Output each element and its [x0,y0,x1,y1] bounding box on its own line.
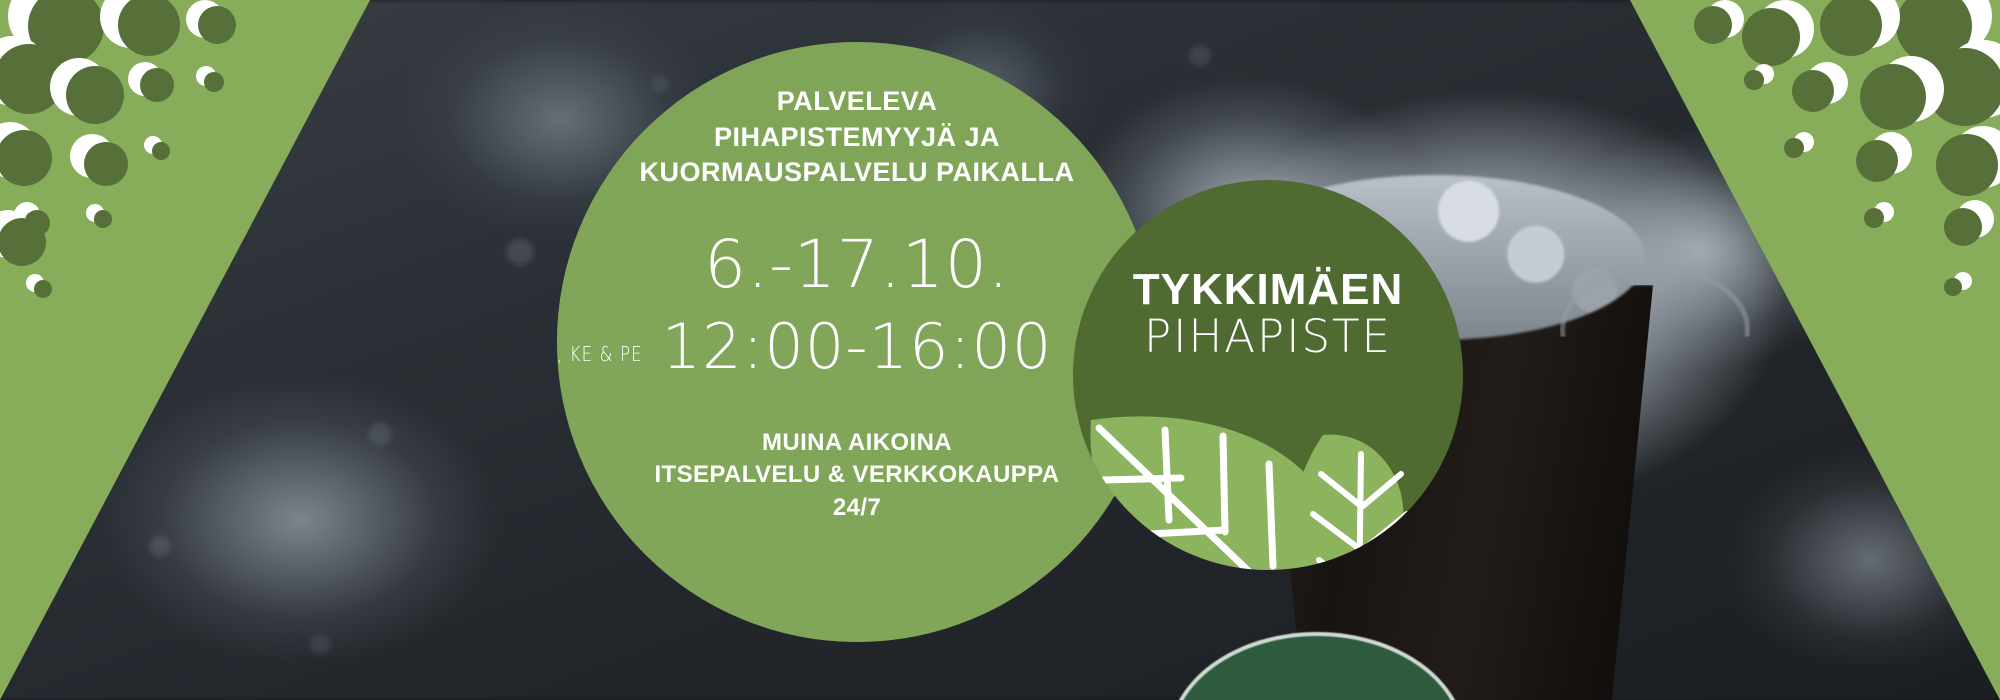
decor-dot [118,0,180,56]
date-range: 6.-17.10. [557,232,1157,298]
decor-dot [152,142,170,160]
logo-line-2: PIHAPISTE [1073,313,1463,360]
promo-banner: PALVELEVA PIHAPISTEMYYJÄ JA KUORMAUSPALV… [0,0,2000,700]
decor-dot [1860,64,1926,130]
decor-dot [1792,70,1834,112]
decor-dot [1944,208,1982,246]
decor-dot [1864,208,1884,228]
headline-line-3: KUORMAUSPALVELU PAIKALLA [557,155,1157,191]
decor-dot [94,210,112,228]
footnote-line-2: ITSEPALVELU & VERKKOKAUPPA [557,459,1157,491]
logo-wordmark: TYKKIMÄEN PIHAPISTE [1073,268,1463,360]
decor-dot [1744,70,1764,90]
time-row: MA, KE & PE 12:00-16:00 [557,316,1157,378]
footnote-line-3: 24/7 [557,492,1157,524]
decor-dot [198,6,236,44]
decor-dot [84,142,128,186]
time-range: 12:00-16:00 [557,316,1157,378]
decor-dot [1784,138,1804,158]
two-leaves-icon [1073,380,1463,570]
decor-dot [0,130,52,186]
headline-line-2: PIHAPISTEMYYJÄ JA [557,120,1157,156]
decor-dot [0,218,46,266]
info-circle: PALVELEVA PIHAPISTEMYYJÄ JA KUORMAUSPALV… [557,42,1157,642]
logo-circle: TYKKIMÄEN PIHAPISTE [1073,180,1463,570]
decor-dot [34,280,52,298]
decor-dot [1742,8,1800,66]
opening-hours-block: 6.-17.10. MA, KE & PE 12:00-16:00 [557,232,1157,378]
decor-dot [1856,140,1898,182]
decor-dot [204,72,224,92]
footnote: MUINA AIKOINA ITSEPALVELU & VERKKOKAUPPA… [557,427,1157,524]
decor-dot [140,68,174,102]
headline-line-1: PALVELEVA [557,84,1157,120]
decor-dot [66,66,124,124]
footnote-line-1: MUINA AIKOINA [557,427,1157,459]
decor-dot [1694,6,1732,44]
decor-dot [1936,134,1998,196]
weekdays-label: MA, KE & PE [557,342,643,366]
headline: PALVELEVA PIHAPISTEMYYJÄ JA KUORMAUSPALV… [557,84,1157,191]
logo-line-1: TYKKIMÄEN [1073,268,1463,313]
info-content: PALVELEVA PIHAPISTEMYYJÄ JA KUORMAUSPALV… [557,42,1157,642]
decor-dot [1944,278,1962,296]
